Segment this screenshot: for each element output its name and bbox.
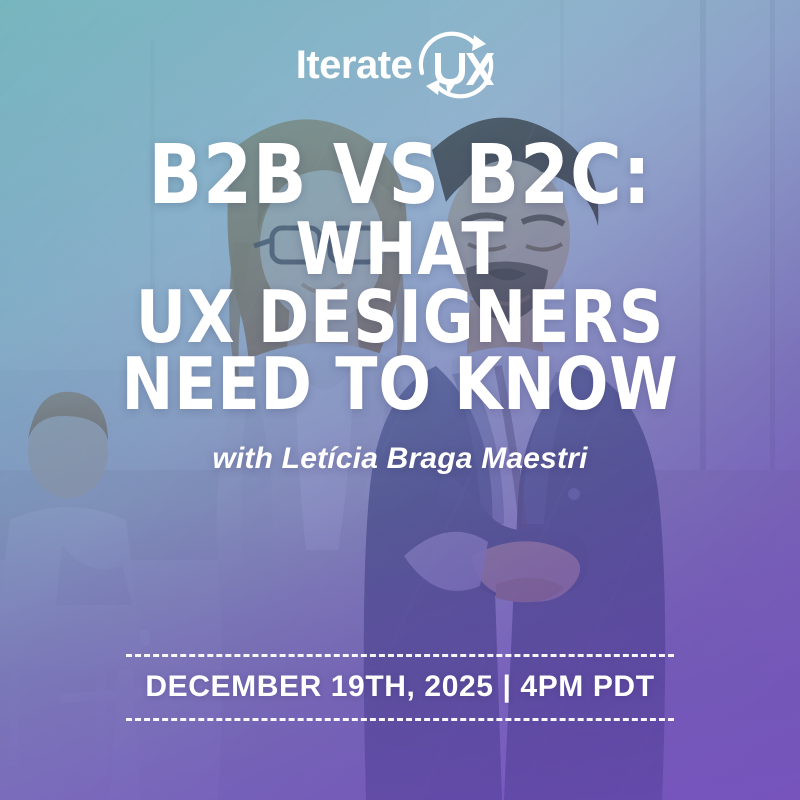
event-date-bar: DECEMBER 19TH, 2025 | 4PM PDT bbox=[0, 654, 800, 721]
headline-line-3: UX DESIGNERS bbox=[56, 286, 744, 349]
webinar-promo-poster: stock stock stock stock stock stock stoc… bbox=[0, 0, 800, 800]
brand-logo-ux-mark bbox=[408, 27, 504, 103]
event-date-box: DECEMBER 19TH, 2025 | 4PM PDT bbox=[126, 654, 674, 721]
headline-line-1: B2B VS B2C: bbox=[56, 140, 744, 212]
headline-line-4: NEED TO KNOW bbox=[56, 353, 744, 416]
headline: B2B VS B2C: WHAT UX DESIGNERS NEED TO KN… bbox=[0, 140, 800, 416]
event-date-text: DECEMBER 19TH, 2025 | 4PM PDT bbox=[145, 670, 654, 703]
speaker-name: with Letícia Braga Maestri bbox=[212, 442, 587, 476]
headline-line-2: WHAT bbox=[56, 218, 744, 281]
brand-logo[interactable]: Iterate bbox=[296, 34, 505, 96]
brand-logo-wordmark: Iterate bbox=[296, 45, 413, 85]
